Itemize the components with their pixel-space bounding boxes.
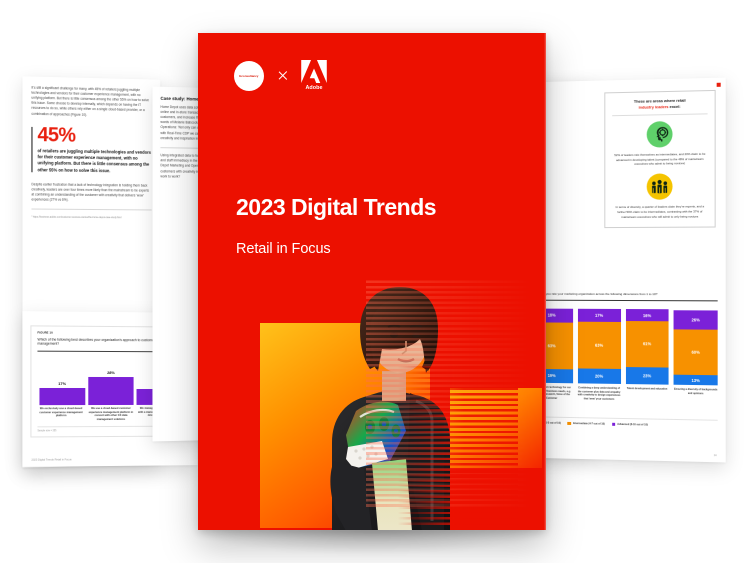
leaders-card-title: These are areas where retail industry le… bbox=[612, 97, 707, 110]
segment-novice: 23% bbox=[625, 367, 668, 385]
stat-caption: of retailers are juggling multiple techn… bbox=[37, 148, 151, 175]
right-figure-question: How would you rate your marketing organi… bbox=[531, 292, 718, 297]
leaders-callout-card: These are areas where retail industry le… bbox=[604, 90, 715, 228]
page-number: 14 bbox=[714, 454, 717, 457]
left-page-paragraph-1: It's still a significant challenge for m… bbox=[31, 86, 151, 119]
stacked-bar-category-label: Talent development and education bbox=[625, 387, 668, 414]
segment-intermediate: 60% bbox=[674, 330, 718, 376]
right-figure-rule bbox=[531, 300, 718, 301]
stacked-bar-category-label: Ensuring a diversity of backgrounds and … bbox=[674, 388, 718, 415]
leaders-icon-2-wrap bbox=[612, 173, 707, 200]
stacked-bar-group: 26% 60% 13% Ensuring a diversity of back… bbox=[674, 309, 718, 414]
bar-group: 28% bbox=[88, 361, 133, 405]
left-page-stat-block: 45% of retailers are juggling multiple t… bbox=[31, 126, 151, 175]
segment-intermediate: 61% bbox=[625, 321, 668, 367]
composite-scene: It's still a significant challenge for m… bbox=[0, 0, 750, 563]
card-divider bbox=[612, 114, 707, 116]
head-with-gear-icon bbox=[647, 121, 673, 148]
cover-drop-shadow bbox=[198, 528, 546, 554]
leaders-icon-1-wrap bbox=[612, 120, 707, 148]
group-of-people-icon bbox=[647, 174, 673, 200]
cover-title: 2023 Digital Trends bbox=[236, 196, 436, 219]
bar-value-label: 28% bbox=[107, 370, 115, 375]
left-page-paragraph-2: Despite earlier frustration that a lack … bbox=[31, 182, 151, 204]
leaders-card-text-1: 52% of leaders rate themselves as interm… bbox=[612, 152, 707, 168]
segment-intermediate: 63% bbox=[578, 321, 621, 369]
logo-separator-x-icon bbox=[277, 70, 288, 81]
legend-label-advanced: Advanced (8-10 out of 10) bbox=[617, 423, 648, 427]
stacked-bar-stack: 16% 61% 23% bbox=[625, 309, 668, 385]
stacked-chart-legend: Novice (1-3 out of 10) Intermediate (4-7… bbox=[531, 416, 718, 428]
divider bbox=[31, 209, 151, 210]
segment-advanced: 16% bbox=[625, 309, 668, 321]
bar-group: 17% bbox=[39, 360, 85, 404]
stat-number: 45% bbox=[37, 126, 151, 147]
bar-rect bbox=[88, 377, 133, 405]
segment-novice: 20% bbox=[578, 368, 621, 384]
cover-subtitle: Retail in Focus bbox=[236, 241, 331, 257]
report-page-right: These are areas where retail industry le… bbox=[523, 78, 726, 463]
econsultancy-logo-text: Econsultancy bbox=[239, 74, 258, 78]
cover-logo-row: Econsultancy Adobe bbox=[234, 60, 327, 91]
legend-swatch-intermediate bbox=[568, 421, 571, 425]
stacked-bar-stack: 17% 63% 20% bbox=[578, 309, 621, 384]
segment-advanced: 17% bbox=[578, 309, 621, 322]
hero-portrait-illustration bbox=[298, 275, 478, 530]
corner-marker bbox=[717, 83, 721, 87]
leaders-card-text-2: In terms of diversity, a quarter of lead… bbox=[612, 204, 707, 219]
stacked-bar-group: 17% 63% 20% Combining a deep understandi… bbox=[578, 309, 621, 413]
adobe-logo: Adobe bbox=[301, 60, 327, 91]
legend-item-advanced: Advanced (8-10 out of 10) bbox=[612, 422, 648, 426]
legend-item-intermediate: Intermediate (4-7 out of 10) bbox=[568, 421, 605, 425]
stacked-bar-group: 16% 61% 23% Talent development and educa… bbox=[625, 309, 668, 414]
stacked-bar-stack: 26% 60% 13% bbox=[674, 309, 718, 385]
footer-doc-title: 2023 Digital Trends Retail in Focus bbox=[31, 458, 71, 461]
bar-category-label: We exclusively use a cloud-based custome… bbox=[38, 407, 84, 423]
stacked-bar-category-label: Combining a deep understanding of the cu… bbox=[578, 386, 621, 413]
bar-rect bbox=[39, 388, 85, 405]
page-footer-left-figure: 2023 Digital Trends Retail in Focus bbox=[31, 457, 189, 461]
bar-value-label: 17% bbox=[58, 381, 66, 386]
leaders-title-accent: industry leaders bbox=[639, 104, 669, 110]
econsultancy-logo-icon: Econsultancy bbox=[234, 61, 264, 91]
adobe-a-icon bbox=[301, 60, 327, 83]
segment-novice: 13% bbox=[674, 375, 718, 385]
left-page-footnote: * https://business.adobe.com/customer-su… bbox=[31, 216, 151, 220]
legend-swatch-advanced bbox=[612, 422, 616, 426]
legend-label-intermediate: Intermediate (4-7 out of 10) bbox=[573, 422, 605, 426]
adobe-wordmark: Adobe bbox=[305, 85, 322, 91]
segment-advanced: 26% bbox=[674, 310, 718, 330]
report-cover: Econsultancy Adobe 2023 Digital Trends R… bbox=[198, 33, 546, 530]
stacked-bar-chart: 18% 63% 19% Using modern technology for … bbox=[531, 309, 718, 415]
bar-category-label: We use a cloud-based customer experience… bbox=[88, 407, 133, 423]
leaders-title-post: excel: bbox=[670, 103, 681, 108]
page-footer-right: 14 bbox=[531, 450, 716, 457]
